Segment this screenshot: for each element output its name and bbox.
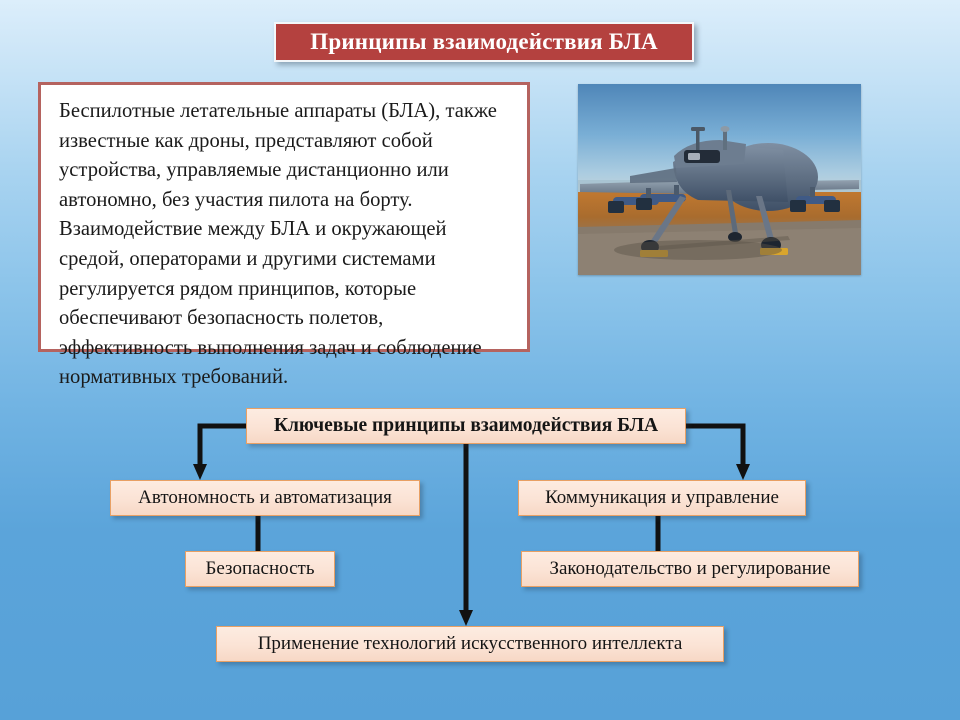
- arrowhead-autonomy: [193, 464, 207, 480]
- diagram-node-ai[interactable]: Применение технологий искусственного инт…: [216, 626, 724, 662]
- diagram-node-ai-label: Применение технологий искусственного инт…: [258, 633, 683, 655]
- diagram-connectors: [0, 0, 960, 720]
- arrowhead-communication: [736, 464, 750, 480]
- diagram-node-legislation[interactable]: Законодательство и регулирование: [521, 551, 859, 587]
- diagram-node-legislation-label: Законодательство и регулирование: [549, 558, 830, 580]
- arrowhead-ai: [459, 610, 473, 626]
- diagram-node-autonomy[interactable]: Автономность и автоматизация: [110, 480, 420, 516]
- diagram-node-root[interactable]: Ключевые принципы взаимодействия БЛА: [246, 408, 686, 444]
- diagram-node-root-label: Ключевые принципы взаимодействия БЛА: [274, 415, 658, 437]
- slide-canvas: Принципы взаимодействия БЛА Беспилотные …: [0, 0, 960, 720]
- diagram-node-safety[interactable]: Безопасность: [185, 551, 335, 587]
- diagram-node-communication-label: Коммуникация и управление: [545, 487, 779, 509]
- diagram-node-communication[interactable]: Коммуникация и управление: [518, 480, 806, 516]
- diagram-node-autonomy-label: Автономность и автоматизация: [138, 487, 392, 509]
- connector-root-to-autonomy: [200, 426, 246, 468]
- connector-root-to-communication: [686, 426, 743, 468]
- diagram-node-safety-label: Безопасность: [205, 558, 314, 580]
